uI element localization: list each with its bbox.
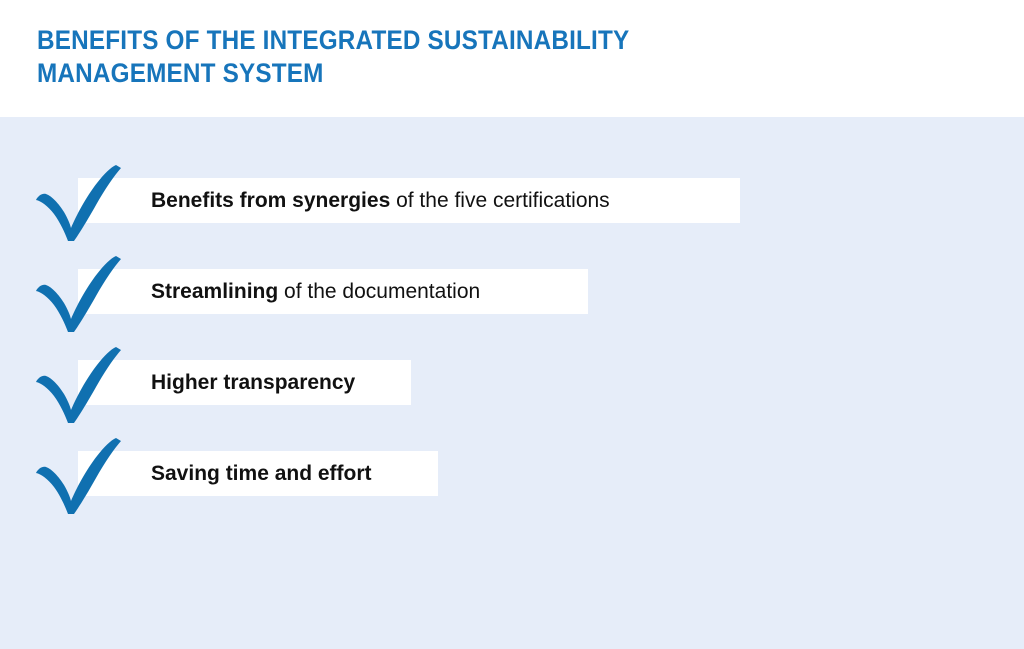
content-panel: Benefits from synergies of the five cert… (0, 117, 1024, 649)
benefit-box: Higher transparency (78, 360, 411, 405)
benefit-text-bold: Higher transparency (151, 371, 355, 394)
benefit-box: Benefits from synergies of the five cert… (78, 178, 740, 223)
benefit-text-regular: of the five certifications (390, 189, 609, 212)
benefit-text: Benefits from synergies of the five cert… (151, 189, 610, 213)
benefit-box: Saving time and effort (78, 451, 438, 496)
benefit-text: Streamlining of the documentation (151, 280, 480, 304)
benefit-box: Streamlining of the documentation (78, 269, 588, 314)
benefit-text: Saving time and effort (151, 462, 372, 486)
benefit-text-bold: Streamlining (151, 280, 278, 303)
benefit-text-bold: Benefits from synergies (151, 189, 390, 212)
benefit-text-regular: of the documentation (278, 280, 480, 303)
page-title: BENEFITS OF THE INTEGRATED SUSTAINABILIT… (37, 24, 775, 90)
slide-canvas: BENEFITS OF THE INTEGRATED SUSTAINABILIT… (0, 0, 1024, 649)
benefit-text-bold: Saving time and effort (151, 462, 372, 485)
benefit-text: Higher transparency (151, 371, 355, 395)
title-block: BENEFITS OF THE INTEGRATED SUSTAINABILIT… (37, 24, 857, 90)
